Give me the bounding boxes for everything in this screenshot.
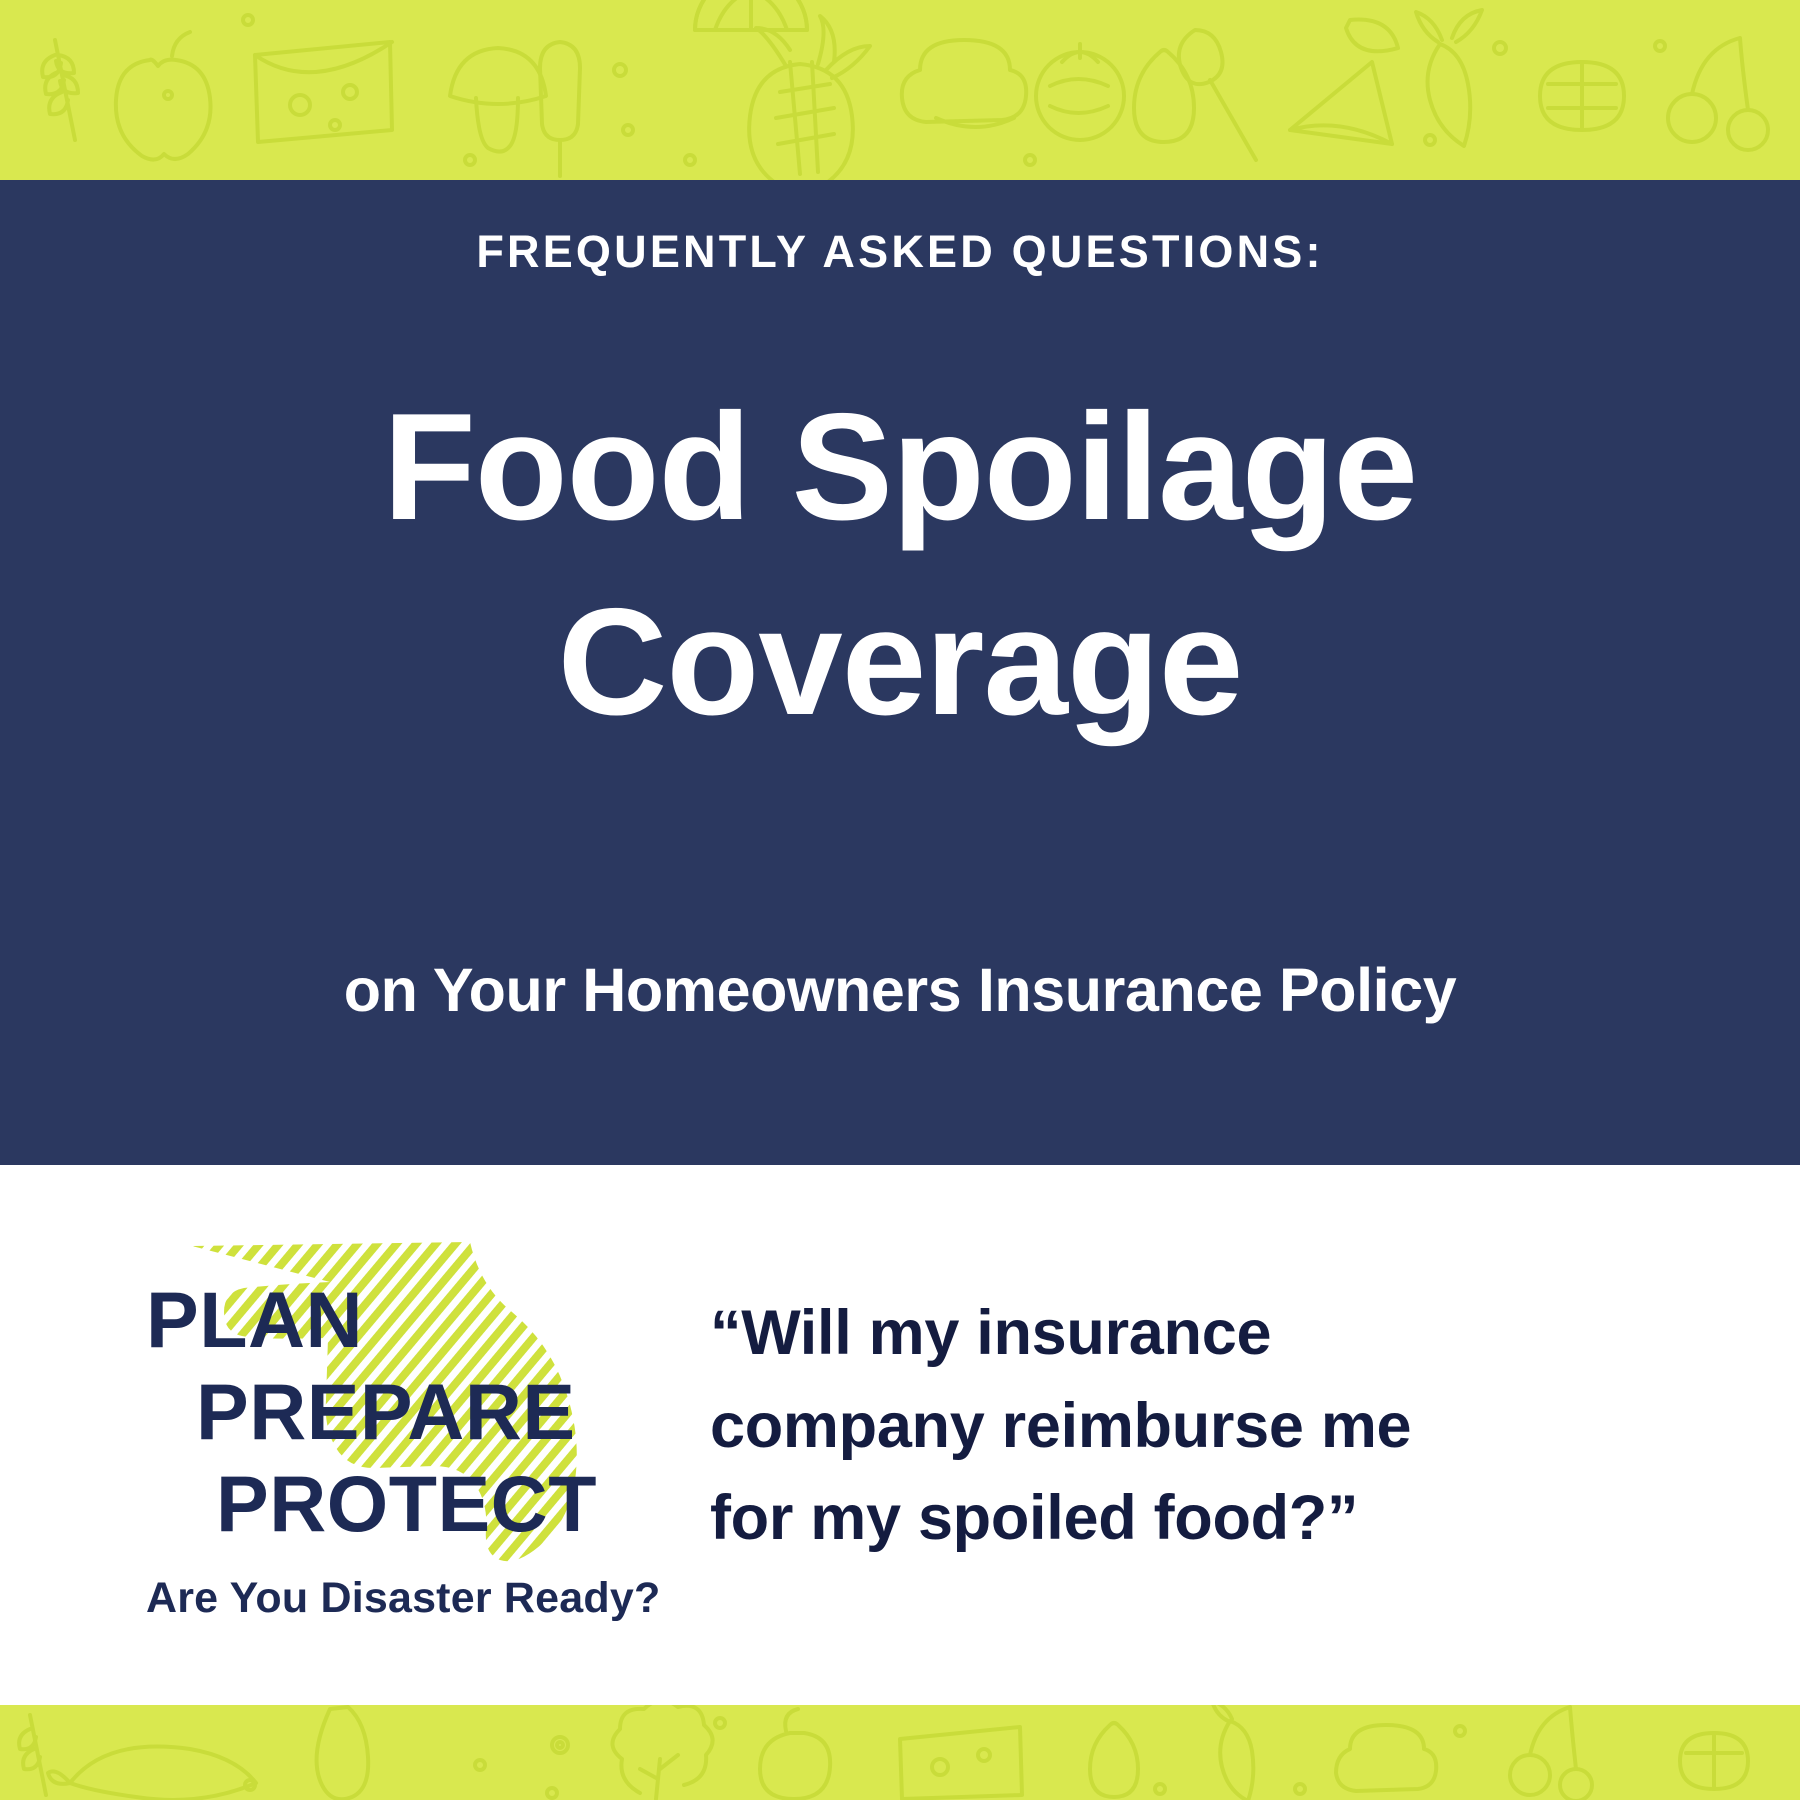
brand-word-plan: PLAN (146, 1274, 363, 1366)
faq-question-quote: “Will my insurance company reimburse me … (710, 1287, 1510, 1565)
food-doodle-band-top (0, 0, 1800, 180)
eyebrow-label: FREQUENTLY ASKED QUESTIONS: (0, 226, 1800, 278)
brand-word-prepare: PREPARE (196, 1366, 576, 1458)
brand-word-protect: PROTECT (216, 1458, 597, 1550)
doodle-pattern-top (0, 0, 1800, 180)
brand-wordmark: PLAN PREPARE PROTECT (140, 1240, 660, 1570)
brand-logo[interactable]: PLAN PREPARE PROTECT Are You Disaster Re… (140, 1240, 660, 1640)
food-doodle-band-bottom (0, 1705, 1800, 1800)
lower-section: PLAN PREPARE PROTECT Are You Disaster Re… (0, 1165, 1800, 1705)
poster-canvas: FREQUENTLY ASKED QUESTIONS: Food Spoilag… (0, 0, 1800, 1800)
hero-section: FREQUENTLY ASKED QUESTIONS: Food Spoilag… (0, 180, 1800, 1165)
page-title: Food Spoilage Coverage (0, 370, 1800, 759)
page-subtitle: on Your Homeowners Insurance Policy (0, 955, 1800, 1025)
page-title-line-1: Food Spoilage (0, 370, 1800, 565)
page-title-line-2: Coverage (0, 565, 1800, 760)
doodle-pattern-bottom (0, 1705, 1800, 1800)
brand-tagline: Are You Disaster Ready? (146, 1574, 666, 1623)
